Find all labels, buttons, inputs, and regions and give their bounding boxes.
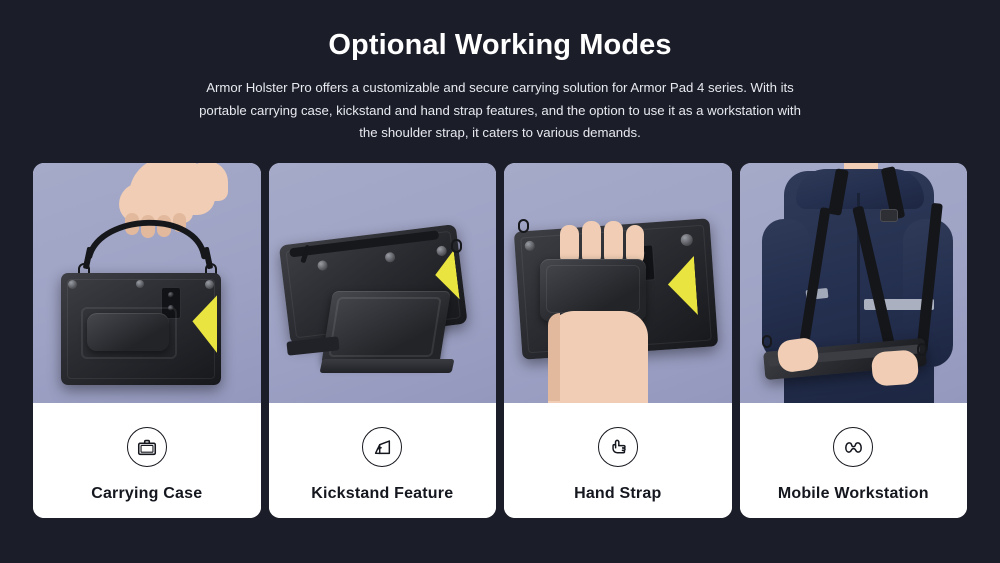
carrying-case-illustration	[33, 163, 261, 403]
carrying-case-footer: Carrying Case	[33, 403, 261, 518]
hand-strap-photo	[504, 163, 732, 403]
hand-strap-illustration	[504, 163, 732, 403]
mobile-workstation-footer: Mobile Workstation	[740, 403, 968, 518]
gamepad-harness-icon	[833, 427, 873, 467]
carrying-case-photo	[33, 163, 261, 403]
mode-card-carrying-case[interactable]: Carrying Case	[33, 163, 261, 518]
mode-card-hand-strap[interactable]: Hand Strap	[504, 163, 732, 518]
kickstand-illustration	[269, 163, 497, 403]
hand-strap-footer: Hand Strap	[504, 403, 732, 518]
mode-card-label: Carrying Case	[91, 485, 202, 503]
mode-card-list: Carrying Case	[33, 163, 967, 518]
mode-card-kickstand[interactable]: Kickstand Feature	[269, 163, 497, 518]
mode-card-label: Hand Strap	[574, 485, 661, 503]
slide-root: Optional Working Modes Armor Holster Pro…	[0, 0, 1000, 563]
page-description: Armor Holster Pro offers a customizable …	[190, 77, 810, 145]
hand-icon	[598, 427, 638, 467]
kickstand-icon	[362, 427, 402, 467]
mobile-workstation-photo	[740, 163, 968, 403]
page-title: Optional Working Modes	[0, 28, 1000, 63]
kickstand-footer: Kickstand Feature	[269, 403, 497, 518]
header: Optional Working Modes Armor Holster Pro…	[0, 0, 1000, 145]
kickstand-photo	[269, 163, 497, 403]
mode-card-label: Mobile Workstation	[778, 485, 929, 503]
briefcase-icon	[127, 427, 167, 467]
mode-card-label: Kickstand Feature	[311, 485, 453, 503]
mode-card-mobile-workstation[interactable]: Mobile Workstation	[740, 163, 968, 518]
mobile-workstation-illustration	[740, 163, 968, 403]
